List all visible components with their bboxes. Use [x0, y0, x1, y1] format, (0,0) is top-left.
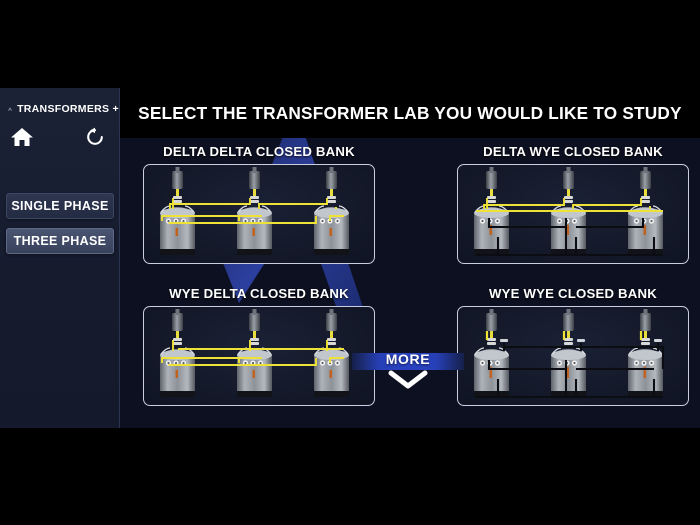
nav-icon-row: [0, 118, 119, 152]
lab-card-grid: DELTA DELTA CLOSED BANK: [120, 138, 700, 428]
transformer-bank-svg: [144, 307, 375, 406]
lab-card-title: DELTA DELTA CLOSED BANK: [143, 144, 375, 159]
transformer-bank-svg: [458, 307, 689, 406]
home-icon[interactable]: [10, 126, 34, 148]
transformer-bank-image: [143, 164, 375, 264]
lab-card-title: WYE WYE CLOSED BANK: [457, 286, 689, 301]
chevron-down-icon: [388, 370, 428, 390]
lab-card-wye-delta[interactable]: WYE DELTA CLOSED BANK: [143, 286, 375, 406]
transformer-bank-image: [457, 306, 689, 406]
lab-card-wye-wye[interactable]: WYE WYE CLOSED BANK: [457, 286, 689, 406]
triangle-logo-icon: [8, 103, 12, 115]
brand: TRANSFORMERS +: [0, 88, 119, 118]
transformer-bank-image: [143, 306, 375, 406]
lab-card-title: WYE DELTA CLOSED BANK: [143, 286, 375, 301]
lab-card-title: DELTA WYE CLOSED BANK: [457, 144, 689, 159]
lab-card-delta-delta[interactable]: DELTA DELTA CLOSED BANK: [143, 144, 375, 264]
brand-label: TRANSFORMERS +: [17, 103, 119, 115]
transformer-bank-image: [457, 164, 689, 264]
page-title: SELECT THE TRANSFORMER LAB YOU WOULD LIK…: [138, 103, 682, 124]
transformer-bank-svg: [458, 165, 689, 264]
more-button[interactable]: MORE: [352, 348, 464, 394]
app-root: TRANSFORMERS + SINGLE PHASE THREE P: [0, 0, 700, 525]
title-bar: SELECT THE TRANSFORMER LAB YOU WOULD LIK…: [120, 88, 700, 138]
transformer-bank-svg: [144, 165, 375, 264]
lab-card-delta-wye[interactable]: DELTA WYE CLOSED BANK: [457, 144, 689, 264]
single-phase-button[interactable]: SINGLE PHASE: [6, 193, 114, 219]
more-label: MORE: [386, 351, 430, 368]
stage: TRANSFORMERS + SINGLE PHASE THREE P: [0, 88, 700, 428]
sidebar: TRANSFORMERS + SINGLE PHASE THREE P: [0, 88, 120, 428]
reset-icon[interactable]: [85, 127, 105, 147]
three-phase-button[interactable]: THREE PHASE: [6, 228, 114, 254]
phase-button-group: SINGLE PHASE THREE PHASE: [0, 193, 120, 263]
